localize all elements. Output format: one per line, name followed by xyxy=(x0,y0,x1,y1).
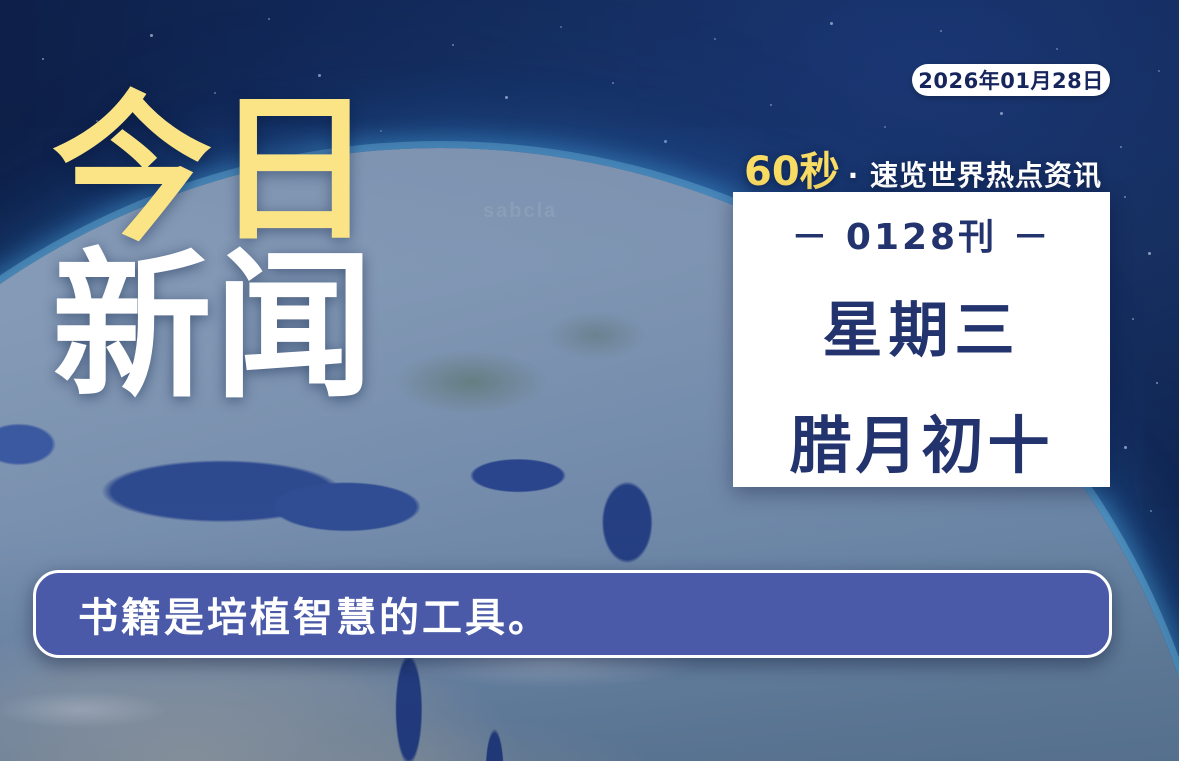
news-poster: sabcla 今日 新闻 2026年01月28日 60秒 · 速览世界热点资讯 … xyxy=(0,0,1179,761)
info-card: － 0128刊 － 星期三 腊月初十 xyxy=(733,192,1110,487)
weekday-label: 星期三 xyxy=(823,282,1021,369)
tagline-highlight: 60秒 xyxy=(744,139,840,197)
headline: 今日 新闻 xyxy=(52,96,482,400)
tagline: 60秒 · 速览世界热点资讯 xyxy=(744,139,1102,197)
headline-line-1: 今日 xyxy=(52,96,482,243)
date-badge: 2026年01月28日 xyxy=(912,64,1110,96)
headline-line-2: 新闻 xyxy=(52,253,482,400)
issue-number: － 0128刊 － xyxy=(791,208,1051,260)
quote-bar: 书籍是培植智慧的工具。 xyxy=(33,570,1112,658)
quote-text: 书籍是培植智慧的工具。 xyxy=(78,585,551,643)
tagline-rest: · 速览世界热点资讯 xyxy=(848,154,1102,194)
lunar-date-label: 腊月初十 xyxy=(789,395,1053,485)
